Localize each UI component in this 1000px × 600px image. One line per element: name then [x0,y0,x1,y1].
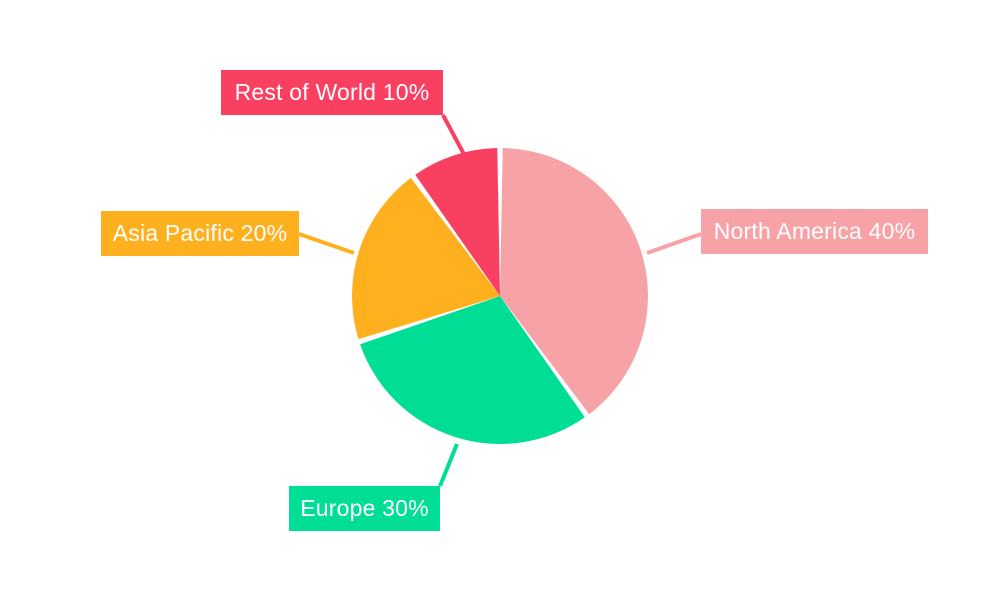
pie-chart-canvas [0,0,1000,600]
slice-label-text: North America 40% [714,220,916,243]
slice-label-europe[interactable]: Europe 30% [289,486,440,531]
leader-line-europe [440,444,457,486]
leader-line-asia-pacific [299,234,354,253]
pie-slice-group [352,148,648,444]
leader-line-north-america [647,234,701,253]
pie-chart: North America 40% Europe 30% Asia Pacifi… [0,0,1000,600]
slice-label-north-america[interactable]: North America 40% [701,209,928,254]
slice-label-asia-pacific[interactable]: Asia Pacific 20% [101,211,299,256]
slice-label-text: Asia Pacific 20% [113,222,288,245]
leader-line-rest-of-world [443,115,466,158]
slice-label-text: Rest of World 10% [235,81,430,104]
slice-label-rest-of-world[interactable]: Rest of World 10% [221,70,443,115]
slice-label-text: Europe 30% [300,497,429,520]
